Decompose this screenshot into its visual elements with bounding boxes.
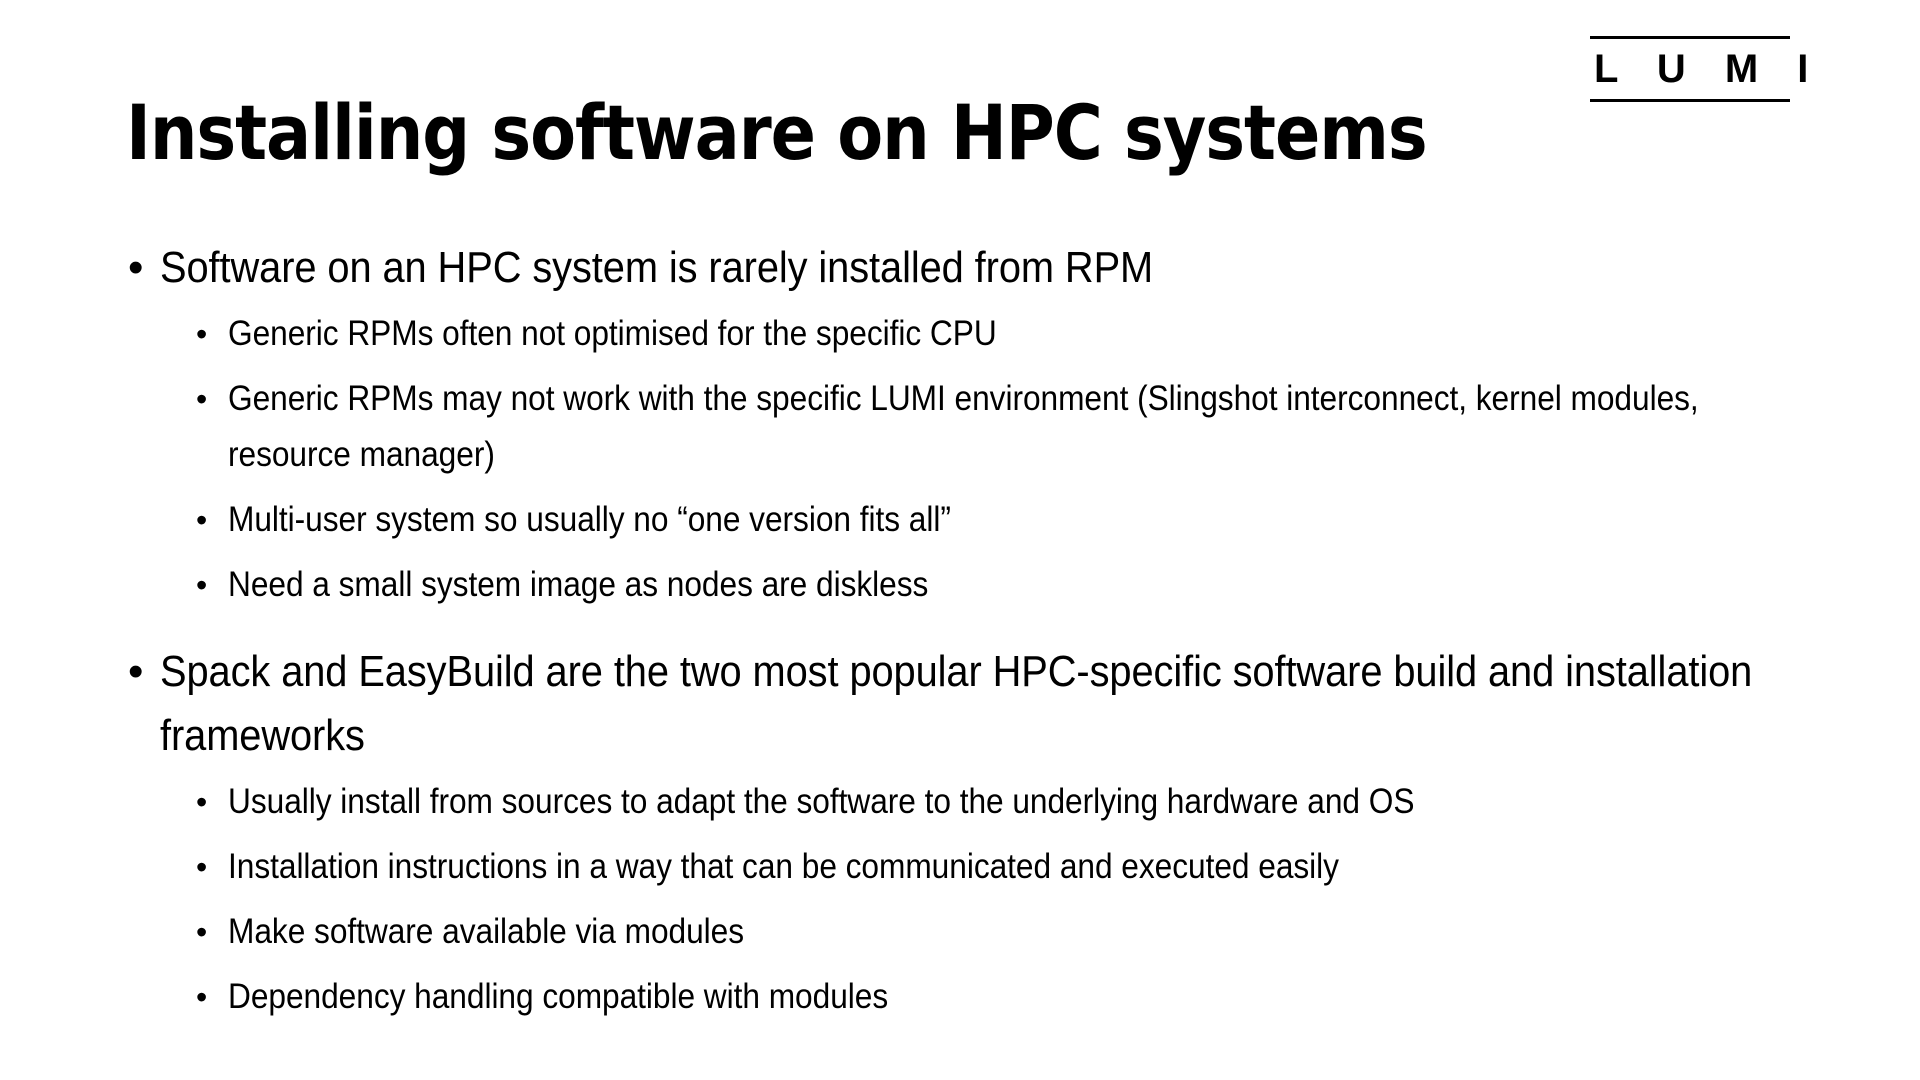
list-item: • Installation instructions in a way tha…: [0, 839, 1920, 895]
list-item: • Multi-user system so usually no “one v…: [0, 492, 1920, 548]
list-item-text: Dependency handling compatible with modu…: [228, 969, 1830, 1025]
bullet-marker-icon: •: [196, 774, 207, 830]
bullet-marker-icon: •: [196, 557, 207, 613]
list-item-text: Multi-user system so usually no “one ver…: [228, 492, 1830, 548]
list-item: • Generic RPMs may not work with the spe…: [0, 371, 1920, 483]
list-item-text: Make software available via modules: [228, 904, 1830, 960]
list-item: • Software on an HPC system is rarely in…: [0, 236, 1920, 300]
list-item: • Spack and EasyBuild are the two most p…: [0, 640, 1920, 768]
list-item-text: Installation instructions in a way that …: [228, 839, 1830, 895]
bullet-marker-icon: •: [196, 969, 207, 1025]
logo-bottom-rule: [1590, 99, 1790, 102]
list-item: • Generic RPMs often not optimised for t…: [0, 306, 1920, 362]
lumi-logo: L U M I: [1590, 36, 1790, 102]
bullet-marker-icon: •: [128, 640, 143, 704]
list-item: • Need a small system image as nodes are…: [0, 557, 1920, 613]
list-item-text: Generic RPMs may not work with the speci…: [228, 371, 1830, 483]
list-item: • Dependency handling compatible with mo…: [0, 969, 1920, 1025]
bullet-list: • Software on an HPC system is rarely in…: [0, 236, 1920, 1034]
slide: Installing software on HPC systems L U M…: [0, 0, 1920, 1080]
list-item-text: Usually install from sources to adapt th…: [228, 774, 1830, 830]
list-item-text: Generic RPMs often not optimised for the…: [228, 306, 1830, 362]
list-item-text: Spack and EasyBuild are the two most pop…: [160, 640, 1830, 768]
bullet-marker-icon: •: [196, 371, 207, 427]
section-spacer: [0, 622, 1920, 640]
list-item: • Make software available via modules: [0, 904, 1920, 960]
bullet-marker-icon: •: [128, 236, 143, 300]
list-item-text: Need a small system image as nodes are d…: [228, 557, 1830, 613]
list-item: • Usually install from sources to adapt …: [0, 774, 1920, 830]
bullet-marker-icon: •: [196, 306, 207, 362]
bullet-marker-icon: •: [196, 839, 207, 895]
logo-wordmark: L U M I: [1590, 39, 1790, 99]
page-title: Installing software on HPC systems: [126, 95, 1340, 171]
bullet-marker-icon: •: [196, 492, 207, 548]
list-item-text: Software on an HPC system is rarely inst…: [160, 236, 1830, 300]
bullet-marker-icon: •: [196, 904, 207, 960]
